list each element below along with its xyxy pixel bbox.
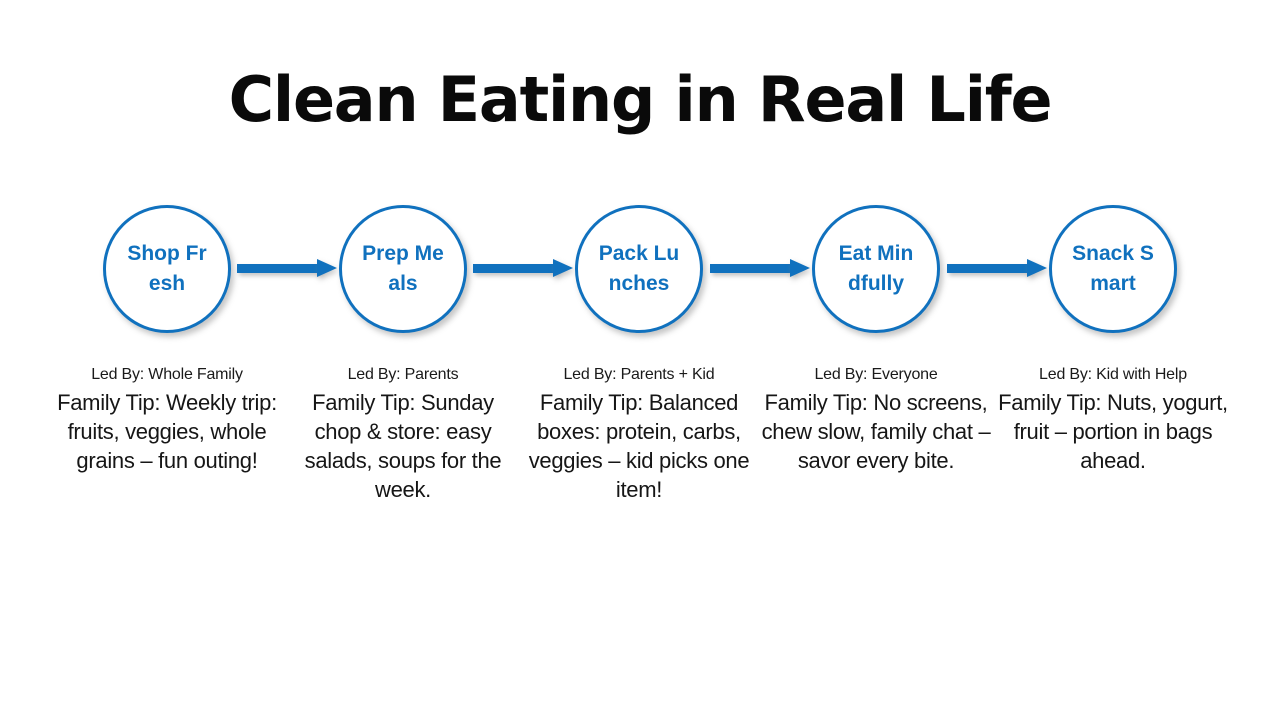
caption-led-by: Led By: Kid with Help — [995, 364, 1231, 386]
arrow-shaft — [710, 264, 794, 273]
caption-family-tip: Family Tip: Weekly trip: fruits, veggies… — [49, 388, 285, 475]
arrow-head — [553, 259, 573, 277]
flow-node-shop-fresh[interactable]: Shop Fresh — [103, 205, 231, 333]
arrow-head — [317, 259, 337, 277]
caption-snack-smart: Led By: Kid with Help Family Tip: Nuts, … — [995, 364, 1231, 475]
page-title: Clean Eating in Real Life — [0, 60, 1280, 140]
caption-prep-meals: Led By: Parents Family Tip: Sunday chop … — [285, 364, 521, 504]
flow-node-label: Pack Lunches — [596, 239, 682, 299]
arrow-head — [790, 259, 810, 277]
arrow-right-icon — [947, 263, 1047, 277]
caption-family-tip: Family Tip: No screens, chew slow, famil… — [758, 388, 994, 475]
caption-shop-fresh: Led By: Whole Family Family Tip: Weekly … — [49, 364, 285, 475]
arrow-head — [1027, 259, 1047, 277]
arrow-shaft — [237, 264, 321, 273]
slide-canvas: Clean Eating in Real Life Shop Fresh Pre… — [0, 0, 1280, 720]
arrow-shaft — [947, 264, 1031, 273]
flow-node-pack-lunches[interactable]: Pack Lunches — [575, 205, 703, 333]
flow-node-label: Shop Fresh — [124, 239, 210, 299]
step-captions: Led By: Whole Family Family Tip: Weekly … — [0, 364, 1280, 564]
flow-node-eat-mindfully[interactable]: Eat Mindfully — [812, 205, 940, 333]
caption-family-tip: Family Tip: Balanced boxes: protein, car… — [521, 388, 757, 504]
caption-family-tip: Family Tip: Sunday chop & store: easy sa… — [285, 388, 521, 504]
caption-led-by: Led By: Whole Family — [49, 364, 285, 386]
caption-eat-mindfully: Led By: Everyone Family Tip: No screens,… — [758, 364, 994, 475]
arrow-shaft — [473, 264, 557, 273]
process-flow-diagram: Shop Fresh Prep Meals Pack Lunches Eat M… — [103, 205, 1177, 335]
arrow-right-icon — [237, 263, 337, 277]
arrow-right-icon — [710, 263, 810, 277]
caption-led-by: Led By: Parents — [285, 364, 521, 386]
flow-node-label: Prep Meals — [360, 239, 446, 299]
arrow-right-icon — [473, 263, 573, 277]
caption-family-tip: Family Tip: Nuts, yogurt, fruit – portio… — [995, 388, 1231, 475]
flow-node-snack-smart[interactable]: Snack Smart — [1049, 205, 1177, 333]
caption-led-by: Led By: Everyone — [758, 364, 994, 386]
flow-node-label: Snack Smart — [1070, 239, 1156, 299]
flow-node-label: Eat Mindfully — [833, 239, 919, 299]
caption-pack-lunches: Led By: Parents + Kid Family Tip: Balanc… — [521, 364, 757, 504]
flow-node-prep-meals[interactable]: Prep Meals — [339, 205, 467, 333]
caption-led-by: Led By: Parents + Kid — [521, 364, 757, 386]
